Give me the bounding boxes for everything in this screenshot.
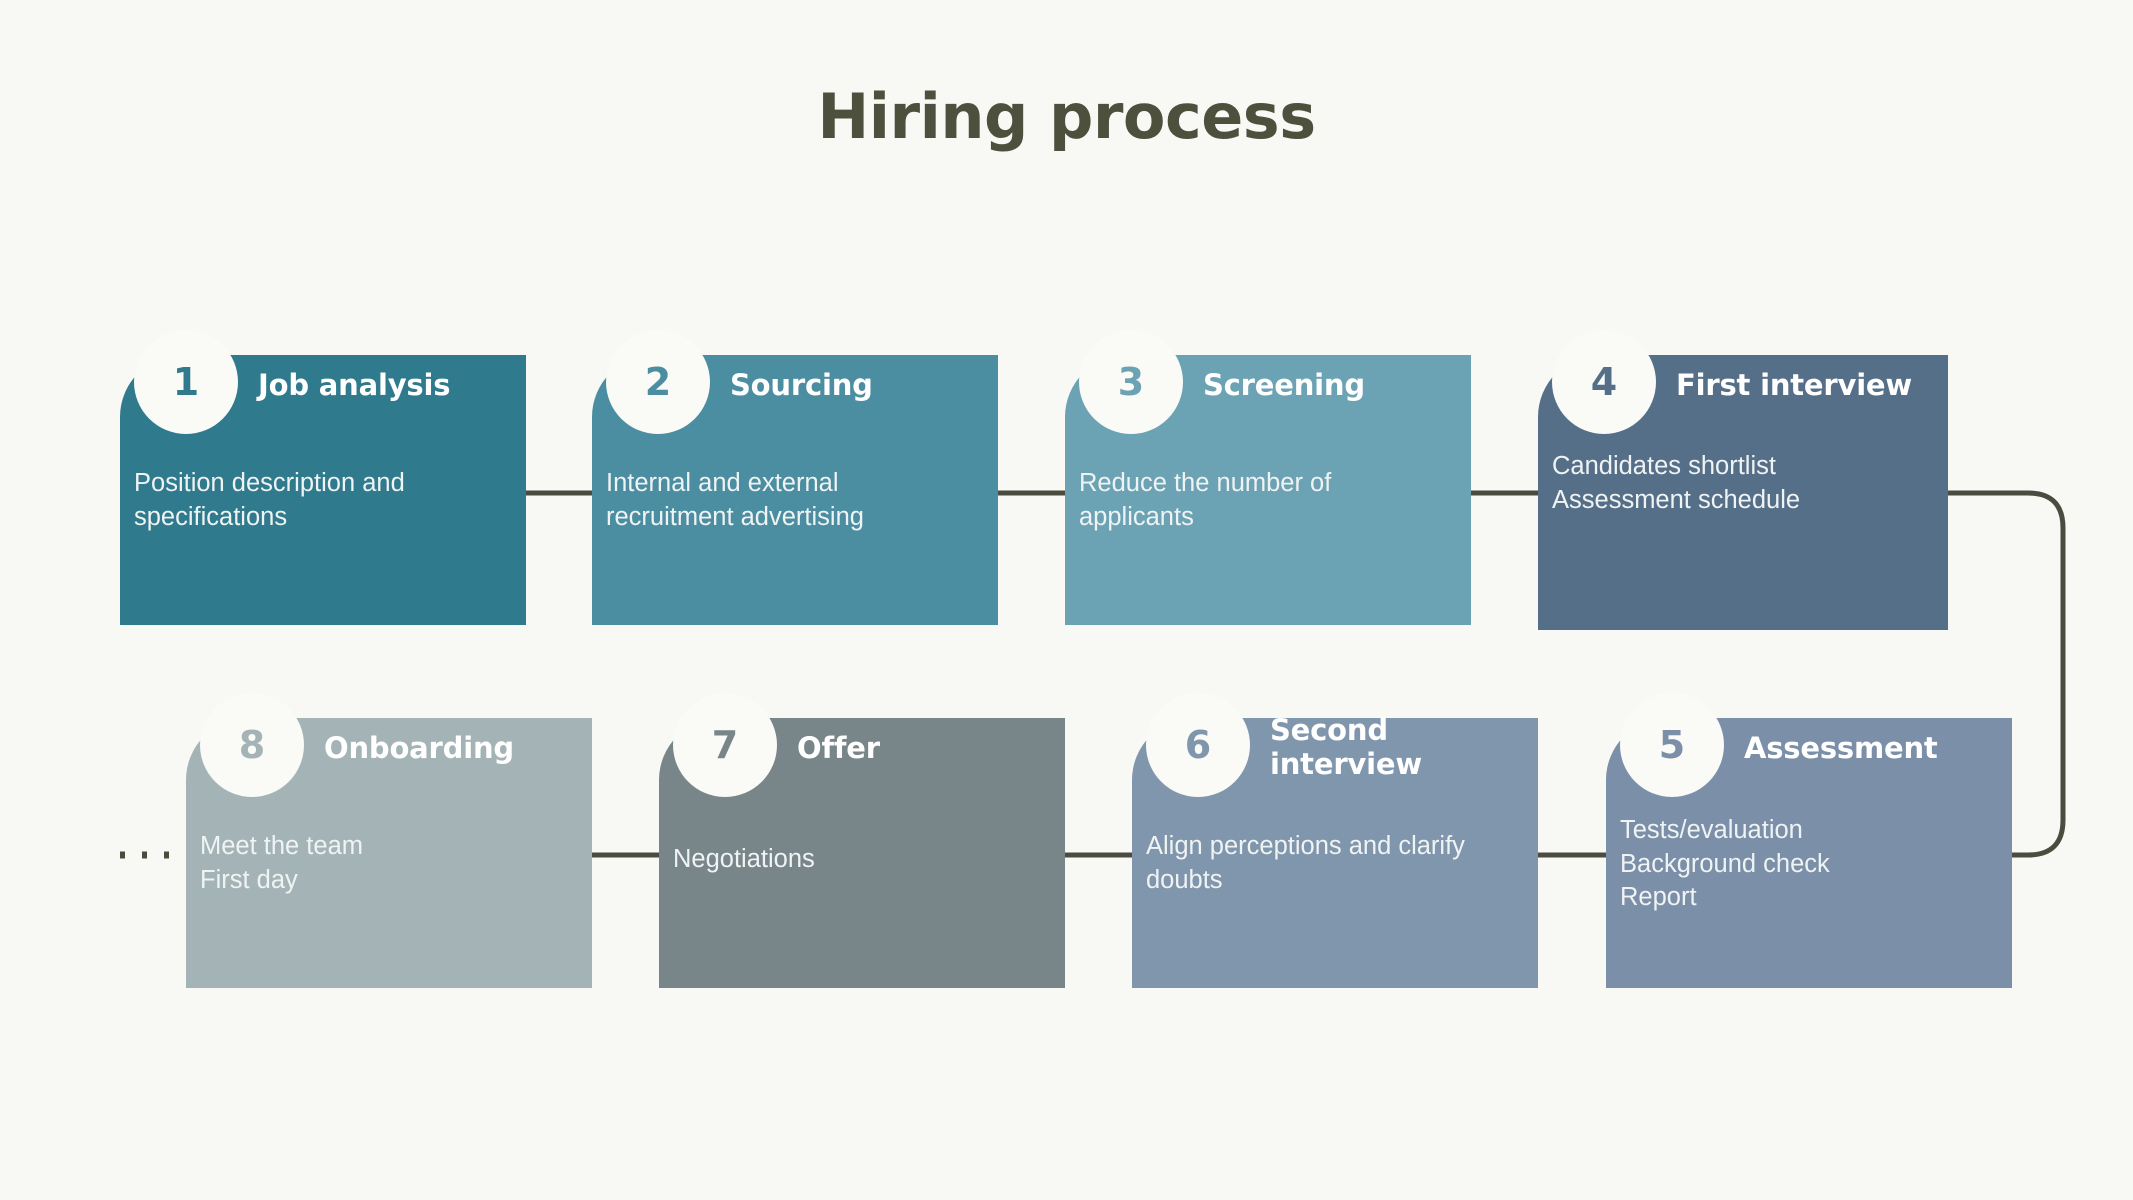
step-number-4: 4 bbox=[1591, 360, 1617, 404]
step-number-5: 5 bbox=[1659, 723, 1685, 767]
process-step-card-6[interactable]: 6 Second interview Align perceptions and… bbox=[1132, 718, 1538, 988]
step-title-6: Second interview bbox=[1270, 713, 1470, 781]
step-number-7: 7 bbox=[712, 723, 738, 767]
step-number-badge-1: 1 bbox=[134, 330, 238, 434]
step-number-badge-4: 4 bbox=[1552, 330, 1656, 434]
process-step-card-4[interactable]: 4 First interview Candidates shortlist A… bbox=[1538, 355, 1948, 630]
step-number-6: 6 bbox=[1185, 723, 1211, 767]
step-number-badge-6: 6 bbox=[1146, 693, 1250, 797]
step-title-7: Offer bbox=[797, 731, 880, 765]
step-body-4: Candidates shortlist Assessment schedule bbox=[1552, 450, 1922, 517]
process-step-card-2[interactable]: 2 Sourcing Internal and external recruit… bbox=[592, 355, 998, 625]
step-number-1: 1 bbox=[173, 360, 199, 404]
step-title-8: Onboarding bbox=[324, 731, 514, 765]
step-number-badge-3: 3 bbox=[1079, 330, 1183, 434]
step-number-8: 8 bbox=[239, 723, 265, 767]
step-title-5: Assessment bbox=[1744, 731, 1938, 765]
process-step-card-1[interactable]: 1 Job analysis Position description and … bbox=[120, 355, 526, 625]
page-title: Hiring process bbox=[0, 80, 2133, 153]
step-body-2: Internal and external recruitment advert… bbox=[606, 467, 946, 534]
step-body-6: Align perceptions and clarify doubts bbox=[1146, 830, 1526, 897]
process-step-card-7[interactable]: 7 Offer Negotiations bbox=[659, 718, 1065, 988]
step-number-2: 2 bbox=[645, 360, 671, 404]
step-title-1: Job analysis bbox=[258, 368, 450, 402]
step-body-3: Reduce the number of applicants bbox=[1079, 467, 1409, 534]
step-title-4: First interview bbox=[1676, 368, 1912, 402]
step-number-badge-2: 2 bbox=[606, 330, 710, 434]
process-step-card-8[interactable]: 8 Onboarding Meet the team First day bbox=[186, 718, 592, 988]
step-body-7: Negotiations bbox=[673, 843, 1013, 877]
diagram-canvas: Hiring process 1 Job analysis Position d… bbox=[0, 0, 2133, 1200]
process-step-card-3[interactable]: 3 Screening Reduce the number of applica… bbox=[1065, 355, 1471, 625]
step-title-3: Screening bbox=[1203, 368, 1365, 402]
step-number-badge-5: 5 bbox=[1620, 693, 1724, 797]
process-step-card-5[interactable]: 5 Assessment Tests/evaluation Background… bbox=[1606, 718, 2012, 988]
step-number-badge-7: 7 bbox=[673, 693, 777, 797]
step-number-3: 3 bbox=[1118, 360, 1144, 404]
step-body-5: Tests/evaluation Background check Report bbox=[1620, 814, 1980, 915]
step-number-badge-8: 8 bbox=[200, 693, 304, 797]
step-body-1: Position description and specifications bbox=[134, 467, 474, 534]
step-title-2: Sourcing bbox=[730, 368, 873, 402]
step-body-8: Meet the team First day bbox=[200, 830, 540, 897]
